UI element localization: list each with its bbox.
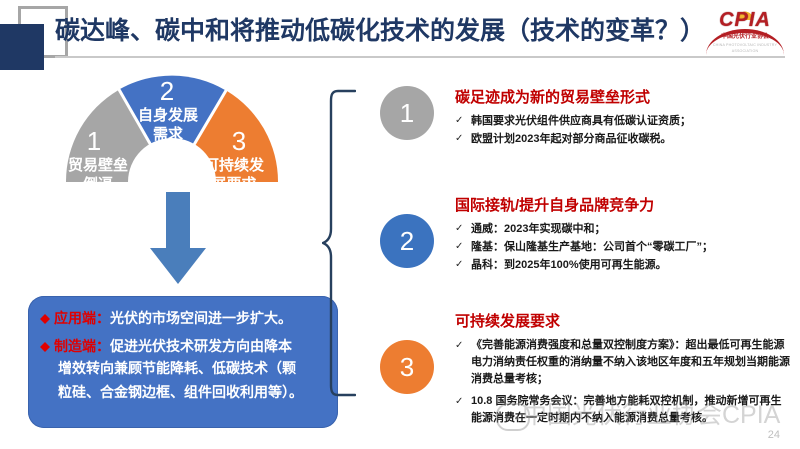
step-2-bullet-2: ✓ 隆基：保山隆基生产基地：公司首个“零碳工厂”；	[455, 239, 790, 255]
conclusion-text-manufacturing: 促进光伏技术研发方向由降本	[110, 338, 292, 354]
down-arrow-icon	[150, 192, 206, 284]
step-1-bullet-1-text: 韩国要求光伏组件供应商具有低碳认证资质；	[471, 115, 691, 127]
step-2-bullet-3-text: 晶科：到2025年100%使用可再生能源。	[471, 259, 667, 271]
conclusion-text-manufacturing-cont1: 增效转向兼顾节能降耗、低碳技术（颗	[58, 356, 330, 380]
conclusion-tag-manufacturing: 制造端：	[54, 338, 110, 354]
header-divider	[55, 56, 785, 58]
check-icon: ✓	[455, 393, 463, 410]
step-circle-3[interactable]: 3	[380, 340, 434, 394]
check-icon: ✓	[455, 239, 463, 255]
step-3-bullet-2: ✓ 10.8 国务院常务会议：完善地方能耗双控机制，推动新增可再生能源消费在一定…	[455, 393, 790, 427]
step-block-3: 可持续发展要求 ✓ 《完善能源消费强度和总量双控制度方案》：超出最低可再生能源电…	[455, 312, 790, 432]
step-2-bullet-3: ✓ 晶科：到2025年100%使用可再生能源。	[455, 257, 790, 273]
step-2-heading: 国际接轨/提升自身品牌竞争力	[455, 196, 790, 216]
conclusion-text-application: 光伏的市场空间进一步扩大。	[110, 310, 292, 326]
step-1-heading: 碳足迹成为新的贸易壁垒形式	[455, 88, 790, 108]
step-3-bullet-2-text: 10.8 国务院常务会议：完善地方能耗双控机制，推动新增可再生能源消费在一定时期…	[471, 395, 781, 424]
conclusion-box: 应用端：光伏的市场空间进一步扩大。 制造端：促进光伏技术研发方向由降本 增效转向…	[28, 296, 338, 428]
slide-header: 碳达峰、碳中和将推动低碳化技术的发展（技术的变革？） CPIA 中国光伏行业协会…	[0, 0, 800, 62]
check-icon: ✓	[455, 337, 463, 354]
diamond-bullet-icon	[40, 309, 50, 319]
step-circle-1[interactable]: 1	[380, 86, 434, 140]
conclusion-text-manufacturing-cont2: 粒硅、合金钢边框、组件回收利用等）。	[58, 380, 330, 404]
conclusion-row-application: 应用端：光伏的市场空间进一步扩大。	[40, 308, 330, 332]
step-block-1: 碳足迹成为新的贸易壁垒形式 ✓ 韩国要求光伏组件供应商具有低碳认证资质； ✓ 欧…	[455, 88, 790, 149]
slide-canvas: 碳达峰、碳中和将推动低碳化技术的发展（技术的变革？） CPIA 中国光伏行业协会…	[0, 0, 800, 449]
step-3-heading: 可持续发展要求	[455, 312, 790, 332]
page-title: 碳达峰、碳中和将推动低碳化技术的发展（技术的变革？）	[55, 10, 675, 52]
step-1-bullet-2: ✓ 欧盟计划2023年起对部分商品征收碳税。	[455, 131, 790, 147]
decorative-square-filled	[0, 24, 44, 70]
down-arrow-shaft	[166, 192, 190, 252]
step-2-bullet-2-text: 隆基：保山隆基生产基地：公司首个“零碳工厂”；	[471, 241, 713, 253]
down-arrow-head	[150, 248, 206, 284]
check-icon: ✓	[455, 257, 463, 273]
conclusion-row-manufacturing: 制造端：促进光伏技术研发方向由降本 增效转向兼顾节能降耗、低碳技术（颗 粒硅、合…	[40, 336, 330, 404]
curly-brace	[322, 88, 356, 398]
page-number: 24	[768, 429, 780, 441]
step-2-bullet-1-text: 通威：2023年实现碳中和；	[471, 223, 605, 235]
step-circle-2[interactable]: 2	[380, 214, 434, 268]
step-block-2: 国际接轨/提升自身品牌竞争力 ✓ 通威：2023年实现碳中和； ✓ 隆基：保山隆…	[455, 196, 790, 275]
diamond-bullet-icon	[40, 337, 50, 347]
cpia-logo: CPIA 中国光伏行业协会 CHINA PHOTOVOLTAIC INDUSTR…	[702, 5, 788, 51]
step-1-bullet-1: ✓ 韩国要求光伏组件供应商具有低碳认证资质；	[455, 113, 790, 129]
cpia-wordmark: CPIA	[702, 10, 788, 30]
cpia-english-name: CHINA PHOTOVOLTAIC INDUSTRY ASSOCIATION	[702, 42, 788, 54]
check-icon: ✓	[455, 113, 463, 129]
step-3-bullet-1-text: 《完善能源消费强度和总量双控制度方案》：超出最低可再生能源电力消纳责任权重的消纳…	[471, 339, 790, 385]
donut-diagram: 1 贸易壁垒 倒逼 2 自身发展 需求 3 可持续发 展要求	[62, 72, 282, 252]
check-icon: ✓	[455, 221, 463, 237]
step-1-bullet-2-text: 欧盟计划2023年起对部分商品征收碳税。	[471, 133, 671, 145]
check-icon: ✓	[455, 131, 463, 147]
conclusion-tag-application: 应用端：	[54, 310, 110, 326]
cpia-chinese-name: 中国光伏行业协会	[702, 33, 788, 41]
step-3-bullet-1: ✓ 《完善能源消费强度和总量双控制度方案》：超出最低可再生能源电力消纳责任权重的…	[455, 337, 790, 388]
step-2-bullet-1: ✓ 通威：2023年实现碳中和；	[455, 221, 790, 237]
